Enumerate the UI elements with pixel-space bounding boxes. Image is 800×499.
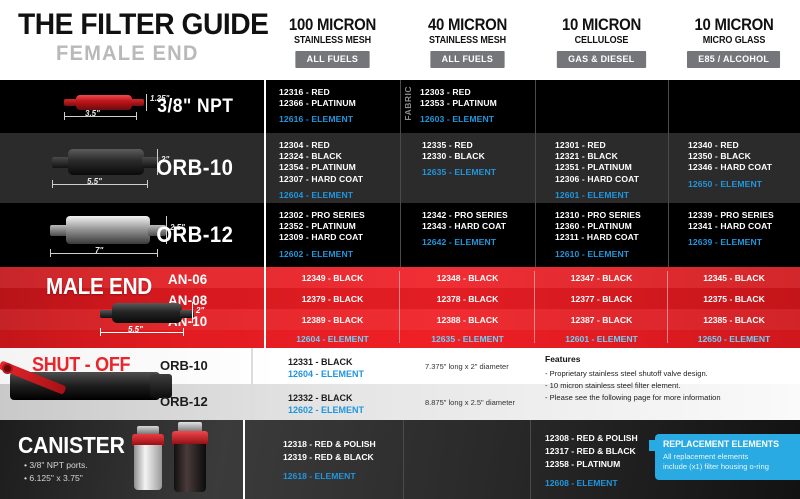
part-number: 12347 - BLACK	[535, 273, 668, 283]
cell-100-micron: 12316 - RED 12366 - PLATINUM 12616 - ELE…	[265, 80, 400, 133]
element-part-number: 12602 - ELEMENT	[288, 405, 364, 415]
part-number: 12301 - RED	[555, 140, 668, 151]
dim-tick	[183, 328, 184, 336]
element-part-number: 12650 - ELEMENT	[688, 179, 800, 190]
part-number: 12345 - BLACK	[668, 273, 800, 283]
size-label-an06: AN-06	[168, 271, 207, 287]
row-cells: 12304 - RED 12324 - BLACK 12354 - PLATIN…	[265, 133, 800, 203]
part-number: 12306 - HARD COAT	[555, 174, 668, 185]
part-number: 12316 - RED	[279, 87, 400, 98]
filter-product-art-38npt	[64, 93, 144, 111]
element-part-number: 12642 - ELEMENT	[422, 237, 535, 248]
canister-bullet: • 3/8" NPT ports.	[24, 460, 88, 470]
row-label-orb12: ORB-12	[160, 394, 208, 409]
cell-40-micron: 12342 - PRO SERIES 12343 - HARD COAT 126…	[400, 203, 535, 267]
row-cells: 12302 - PRO SERIES 12352 - PLATINUM 1230…	[265, 203, 800, 267]
fabric-tag: FABRIC	[403, 86, 413, 121]
part-number: 12340 - RED	[688, 140, 800, 151]
panel-divider	[251, 348, 253, 420]
dim-tick	[157, 249, 158, 257]
part-number: 12303 - RED	[420, 87, 535, 98]
part-number: 12335 - RED	[422, 140, 535, 151]
panel-divider	[243, 420, 245, 499]
part-number: 12360 - PLATINUM	[555, 221, 668, 232]
column-fuel-chip: ALL FUELS	[295, 51, 369, 68]
dim-tick	[52, 180, 53, 188]
part-number: 12342 - PRO SERIES	[422, 210, 535, 221]
column-fuel-chip: ALL FUELS	[430, 51, 504, 68]
column-header-40-micron: 40 MICRON STAINLESS MESH ALL FUELS	[400, 16, 535, 68]
column-header-10-micron-micro-glass: 10 MICRON MICRO GLASS E85 / ALCOHOL	[668, 16, 800, 68]
dim-tick	[136, 112, 137, 120]
part-number: 12346 - HARD COAT	[688, 162, 800, 173]
dim-diameter-label: 2"	[196, 306, 204, 315]
dim-length-label: 5.5"	[128, 325, 143, 334]
element-part-number: 12601 - ELEMENT	[555, 190, 668, 201]
feature-item: - Please see the following page for more…	[545, 393, 721, 402]
row-label-orb10: ORB-10	[160, 358, 208, 373]
cell-100-micron: 12304 - RED 12324 - BLACK 12354 - PLATIN…	[265, 133, 400, 203]
part-number: 12319 - RED & BLACK	[283, 452, 376, 462]
row-label-38npt: 3/8" NPT	[158, 96, 234, 118]
element-part-number: 12604 - ELEMENT	[265, 334, 400, 344]
table-row: 5.5" 2" ORB-10 12304 - RED 12324 - BLACK…	[0, 133, 800, 203]
dim-line-diameter	[192, 302, 193, 323]
replacement-elements-badge: REPLACEMENT ELEMENTS All replacement ele…	[655, 434, 800, 480]
column-material-label: STAINLESS MESH	[272, 34, 394, 47]
canister-product-art-black	[168, 422, 212, 494]
part-number: 12389 - BLACK	[265, 315, 400, 325]
cell-10-micron-micro-glass: 12339 - PRO SERIES 12341 - HARD COAT 126…	[668, 203, 800, 267]
dim-length-label: 5.5"	[87, 177, 102, 186]
dim-line-length	[50, 253, 158, 254]
column-micron-label: 10 MICRON	[543, 16, 660, 33]
element-part-number: 12603 - ELEMENT	[420, 114, 535, 125]
filter-product-art-male	[100, 301, 200, 325]
part-number: 12331 - BLACK	[288, 357, 353, 367]
dim-length-label: 7"	[95, 246, 103, 255]
part-number: 12385 - BLACK	[668, 315, 800, 325]
column-header-10-micron-cellulose: 10 MICRON CELLULOSE GAS & DIESEL	[535, 16, 668, 68]
element-part-number: 12601 - ELEMENT	[535, 334, 668, 344]
male-end-label: MALE END	[46, 273, 152, 300]
cell-10-micron-cellulose: 12310 - PRO SERIES 12360 - PLATINUM 1231…	[535, 203, 668, 267]
part-number: 12302 - PRO SERIES	[279, 210, 400, 221]
column-divider	[403, 420, 404, 499]
badge-tail	[649, 440, 656, 451]
page-title: THE FILTER GUIDE	[18, 8, 268, 42]
column-divider	[530, 420, 531, 499]
element-part-number: 12604 - ELEMENT	[288, 369, 364, 379]
part-number: 12324 - BLACK	[279, 151, 400, 162]
cell-40-micron: 12335 - RED 12330 - BLACK 12635 - ELEMEN…	[400, 133, 535, 203]
row-cells: 12316 - RED 12366 - PLATINUM 12616 - ELE…	[265, 80, 800, 133]
part-number: 12317 - RED & BLACK	[545, 446, 638, 456]
column-header-100-micron: 100 MICRON STAINLESS MESH ALL FUELS	[265, 16, 400, 68]
element-part-number: 12635 - ELEMENT	[400, 334, 535, 344]
row-label-orb10: ORB-10	[157, 155, 234, 181]
element-part-number: 12650 - ELEMENT	[668, 334, 800, 344]
dim-line-length	[64, 116, 137, 117]
dimension-text: 7.375" long x 2" diameter	[425, 362, 509, 371]
part-number: 12353 - PLATINUM	[420, 98, 535, 109]
part-number: 12358 - PLATINUM	[545, 459, 638, 469]
dim-tick	[100, 328, 101, 336]
part-number: 12379 - BLACK	[265, 294, 400, 304]
part-number: 12377 - BLACK	[535, 294, 668, 304]
part-number: 12354 - PLATINUM	[279, 162, 400, 173]
part-number: 12310 - PRO SERIES	[555, 210, 668, 221]
dimension-text: 8.875" long x 2.5" diameter	[425, 398, 515, 407]
row-left-panel: 7" 2.5" ORB-12	[0, 203, 265, 267]
cell-canister-col1: 12318 - RED & POLISH 12319 - RED & BLACK…	[283, 439, 376, 469]
cell-10-micron-micro-glass	[668, 80, 800, 133]
column-micron-label: 40 MICRON	[408, 16, 527, 33]
row-left-panel: 3.5" 1.25" 3/8" NPT	[0, 80, 265, 133]
dim-tick	[147, 180, 148, 188]
part-number: 12352 - PLATINUM	[279, 221, 400, 232]
element-part-number: 12639 - ELEMENT	[688, 237, 800, 248]
shut-off-label: SHUT - OFF	[32, 354, 130, 377]
dim-tick	[64, 112, 65, 120]
element-part-number: 12618 - ELEMENT	[283, 471, 376, 481]
filter-guide-sheet: THE FILTER GUIDE FEMALE END 100 MICRON S…	[0, 0, 800, 499]
part-number: 12378 - BLACK	[400, 294, 535, 304]
canister-label: CANISTER	[18, 432, 125, 459]
part-number: 12349 - BLACK	[265, 273, 400, 283]
page-header: THE FILTER GUIDE FEMALE END 100 MICRON S…	[0, 0, 800, 80]
column-micron-label: 10 MICRON	[676, 16, 792, 33]
column-micron-label: 100 MICRON	[273, 16, 392, 33]
dim-length-label: 3.5"	[85, 109, 100, 118]
part-number: 12350 - BLACK	[688, 151, 800, 162]
table-row: 7" 2.5" ORB-12 12302 - PRO SERIES 12352 …	[0, 203, 800, 267]
female-end-subtitle: FEMALE END	[56, 42, 199, 66]
filter-product-art-orb12	[50, 215, 168, 245]
part-number: 12375 - BLACK	[668, 294, 800, 304]
cell-100-micron: 12302 - PRO SERIES 12352 - PLATINUM 1230…	[265, 203, 400, 267]
filter-product-art-orb10	[52, 147, 162, 177]
element-part-number: 12616 - ELEMENT	[279, 114, 400, 125]
element-part-number: 12610 - ELEMENT	[555, 249, 668, 260]
part-number: 12308 - RED & POLISH	[545, 433, 638, 443]
part-number: 12387 - BLACK	[535, 315, 668, 325]
element-part-number: 12608 - ELEMENT	[545, 478, 638, 488]
part-number: 12388 - BLACK	[400, 315, 535, 325]
badge-title: REPLACEMENT ELEMENTS	[663, 439, 787, 449]
element-part-number: 12604 - ELEMENT	[279, 190, 400, 201]
canister-bullet: • 6.125" x 3.75"	[24, 473, 83, 483]
cell-10-micron-cellulose	[535, 80, 668, 133]
features-heading: Features	[545, 354, 580, 364]
part-number: 12309 - HARD COAT	[279, 232, 400, 243]
part-number: 12348 - BLACK	[400, 273, 535, 283]
cell-canister-col3: 12308 - RED & POLISH 12317 - RED & BLACK…	[545, 433, 638, 473]
element-part-number: 12602 - ELEMENT	[279, 249, 400, 260]
female-end-section: 3.5" 1.25" 3/8" NPT 12316 - RED 12366 - …	[0, 80, 800, 267]
part-number: 12330 - BLACK	[422, 151, 535, 162]
canister-product-art-polish	[128, 426, 168, 492]
column-material-label: CELLULOSE	[542, 34, 662, 47]
column-material-label: MICRO GLASS	[675, 34, 794, 47]
row-left-panel: 5.5" 2" ORB-10	[0, 133, 265, 203]
part-number: 12366 - PLATINUM	[279, 98, 400, 109]
part-number: 12318 - RED & POLISH	[283, 439, 376, 449]
feature-item: - 10 micron stainless steel filter eleme…	[545, 381, 680, 390]
shut-off-section: SHUT - OFF ORB-10 ORB-12 12331 - BLACK 1…	[0, 348, 800, 420]
column-fuel-chip: GAS & DIESEL	[557, 51, 646, 68]
panel-divider	[264, 80, 266, 267]
badge-text: All replacement elements include (x1) fi…	[663, 452, 794, 472]
part-number: 12332 - BLACK	[288, 393, 353, 403]
column-fuel-chip: E85 / ALCOHOL	[687, 51, 780, 68]
part-number: 12341 - HARD COAT	[688, 221, 800, 232]
part-number: 12343 - HARD COAT	[422, 221, 535, 232]
row-label-orb12: ORB-12	[157, 222, 234, 248]
part-number: 12351 - PLATINUM	[555, 162, 668, 173]
element-part-number: 12635 - ELEMENT	[422, 167, 535, 178]
part-number: 12307 - HARD COAT	[279, 174, 400, 185]
part-number: 12339 - PRO SERIES	[688, 210, 800, 221]
cell-10-micron-micro-glass: 12340 - RED 12350 - BLACK 12346 - HARD C…	[668, 133, 800, 203]
table-row: 3.5" 1.25" 3/8" NPT 12316 - RED 12366 - …	[0, 80, 800, 133]
part-number: 12321 - BLACK	[555, 151, 668, 162]
dim-tick	[50, 249, 51, 257]
part-number: 12311 - HARD COAT	[555, 232, 668, 243]
part-number: 12304 - RED	[279, 140, 400, 151]
feature-item: - Proprietary stainless steel shutoff va…	[545, 369, 708, 378]
male-end-section: MALE END AN-06 AN-08 AN-10 5.5" 2" 12349…	[0, 267, 800, 348]
cell-10-micron-cellulose: 12301 - RED 12321 - BLACK 12351 - PLATIN…	[535, 133, 668, 203]
cell-40-micron: FABRIC 12303 - RED 12353 - PLATINUM 1260…	[400, 80, 535, 133]
column-material-label: STAINLESS MESH	[407, 34, 529, 47]
dim-line-diameter	[146, 94, 147, 111]
